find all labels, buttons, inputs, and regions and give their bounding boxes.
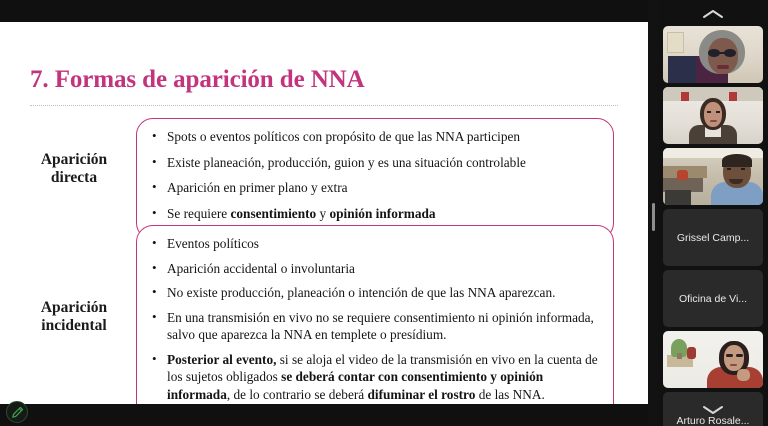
row-label-line-1: Aparición [14, 299, 134, 317]
bullet-list: Spots o eventos políticos con propósito … [147, 128, 599, 222]
row-label-aparicion-incidental: Aparición incidental [14, 299, 134, 336]
participant-tile[interactable] [663, 87, 763, 144]
participant-tile[interactable] [663, 26, 763, 83]
bullet-item: Aparición accidental o involuntaria [147, 260, 599, 278]
participant-video [663, 148, 763, 205]
participant-tile[interactable]: Oficina de Vi... [663, 270, 763, 327]
shared-screen-stage[interactable]: 7. Formas de aparición de NNA Aparición … [0, 0, 648, 426]
bullet-item: Posterior al evento, si se aloja el vide… [147, 351, 599, 404]
participant-tile[interactable]: Grissel Camp... [663, 209, 763, 266]
chevron-up-icon[interactable] [658, 2, 768, 26]
bullet-item: No existe producción, planeación o inten… [147, 284, 599, 302]
participant-video [663, 26, 763, 83]
row-label-line-2: incidental [14, 317, 134, 335]
bullet-item: Eventos políticos [147, 235, 599, 253]
participant-name: Grissel Camp... [663, 209, 763, 266]
bullet-item: En una transmisión en vivo no se requier… [147, 309, 599, 344]
content-box-aparicion-directa: Spots o eventos políticos con propósito … [136, 118, 614, 240]
participant-tile[interactable] [663, 331, 763, 388]
pencil-icon [11, 406, 24, 419]
participant-tile-list: Grissel Camp...Oficina de Vi...Arturo Ro… [663, 26, 763, 398]
resize-grip-icon[interactable] [652, 203, 655, 231]
page-title: 7. Formas de aparición de NNA [30, 66, 365, 94]
title-divider [30, 105, 618, 106]
row-label-aparicion-directa: Aparición directa [14, 151, 134, 188]
participant-video [663, 87, 763, 144]
meeting-window: 7. Formas de aparición de NNA Aparición … [0, 0, 768, 426]
row-label-line-1: Aparición [14, 151, 134, 169]
bullet-item: Existe planeación, producción, guion y e… [147, 154, 599, 172]
content-box-aparicion-incidental: Eventos políticosAparición accidental o … [136, 225, 614, 404]
panel-resize-divider[interactable] [648, 0, 658, 426]
bullet-item: Spots o eventos políticos con propósito … [147, 128, 599, 146]
presentation-slide: 7. Formas de aparición de NNA Aparición … [0, 22, 648, 404]
row-label-line-2: directa [14, 169, 134, 187]
bullet-list: Eventos políticosAparición accidental o … [147, 235, 599, 403]
participant-video [663, 331, 763, 388]
participants-filmstrip: Grissel Camp...Oficina de Vi...Arturo Ro… [658, 0, 768, 426]
participant-tile[interactable] [663, 148, 763, 205]
annotate-pencil-button[interactable] [6, 401, 28, 423]
chevron-down-icon[interactable] [658, 398, 768, 422]
participant-name: Oficina de Vi... [663, 270, 763, 327]
bullet-item: Se requiere consentimiento y opinión inf… [147, 205, 599, 223]
bullet-item: Aparición en primer plano y extra [147, 179, 599, 197]
